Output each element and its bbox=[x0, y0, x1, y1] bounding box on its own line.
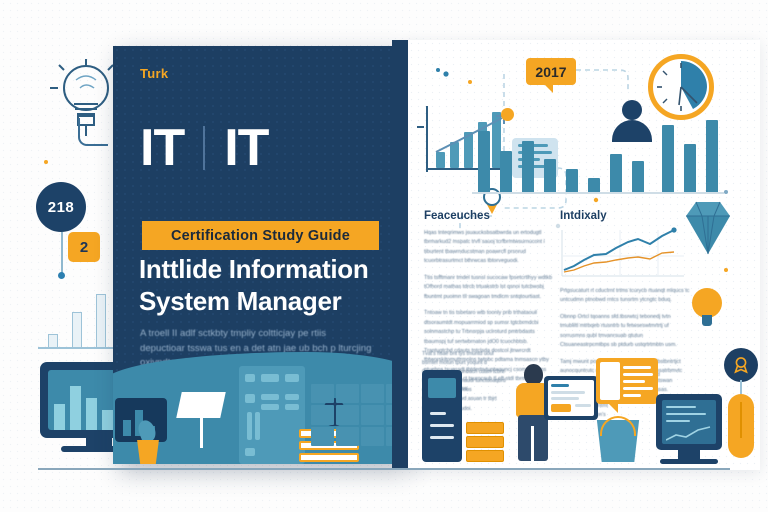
stat-node-circle: 218 bbox=[36, 182, 86, 232]
accent-dot-blue bbox=[436, 68, 440, 72]
publisher-brand: Turk bbox=[140, 66, 168, 81]
right-monitor-trend bbox=[666, 426, 712, 442]
brochure-page[interactable]: 2017 bbox=[408, 40, 760, 470]
node-end-dot bbox=[58, 272, 65, 279]
logo-row: IT IT bbox=[140, 125, 268, 172]
desktop-monitor-right bbox=[656, 394, 722, 450]
cover-server-cabinet bbox=[239, 366, 305, 464]
bar-chart-baseline bbox=[472, 192, 724, 194]
industry-line-chart bbox=[558, 226, 686, 282]
pc-tower-icon bbox=[422, 370, 462, 462]
speech-monitor-icon bbox=[596, 358, 658, 404]
office-scene: Tvat's hsae bnt tys tmuntd uoul bsrntef … bbox=[408, 340, 760, 470]
tower-panel bbox=[428, 378, 456, 398]
badge-stem bbox=[740, 380, 742, 394]
bulb-base bbox=[702, 315, 712, 326]
ribbon-label: Certification Study Guide bbox=[171, 228, 350, 244]
mini-chart-axis bbox=[38, 347, 120, 349]
logo-it-right: IT bbox=[224, 125, 268, 172]
axis-tick bbox=[417, 126, 424, 128]
book-stack-icon bbox=[466, 406, 504, 462]
diamond-gem-icon bbox=[680, 198, 736, 258]
speech-monitor-page bbox=[600, 362, 620, 400]
node-stem bbox=[61, 232, 63, 274]
tablet-screen bbox=[548, 380, 594, 416]
book-title-line2: System Manager bbox=[139, 286, 389, 318]
main-bar-chart bbox=[472, 114, 724, 196]
lightbulb-filled-icon bbox=[692, 288, 722, 328]
section-features-para-2: Ttis tsfftmanr tmdel tusnsl sucocaw fpse… bbox=[424, 274, 554, 302]
poster-canvas: 218 2 bbox=[0, 0, 768, 512]
tablet-device bbox=[544, 376, 598, 420]
right-monitor-foot bbox=[660, 459, 718, 464]
certification-ribbon: Certification Study Guide bbox=[142, 221, 379, 250]
year-callout-bubble: 2017 bbox=[526, 58, 576, 85]
lamp-shade bbox=[176, 392, 226, 418]
page-spine bbox=[392, 40, 408, 470]
book-title-line1: Inttlide Information bbox=[139, 254, 389, 286]
book-cover[interactable]: Turk IT IT Certification Study Guide Int… bbox=[113, 46, 403, 464]
mini-bar-chart bbox=[38, 290, 120, 352]
section-features-heading: Feaceuches bbox=[424, 210, 554, 222]
capsule-line bbox=[740, 402, 742, 438]
book-title: Inttlide Information System Manager bbox=[139, 254, 389, 317]
accent-dot-gem bbox=[724, 268, 728, 272]
award-badge-icon bbox=[724, 348, 758, 382]
capsule-column-icon bbox=[728, 394, 754, 458]
accent-dot bbox=[44, 160, 48, 164]
accent-dot-right bbox=[724, 190, 728, 194]
ground-line bbox=[38, 468, 730, 470]
clock-pie-icon bbox=[648, 54, 714, 120]
person-leg-gap bbox=[531, 426, 534, 462]
section-industry-para-1: Prtgsucaturt rt cductrnt trtms tcurycb r… bbox=[560, 287, 690, 306]
right-monitor-screen bbox=[662, 400, 716, 444]
cover-shelf-grid bbox=[311, 384, 403, 446]
lamp-post bbox=[200, 416, 203, 448]
connector-elbow bbox=[78, 118, 108, 146]
bulb-glass bbox=[692, 288, 722, 318]
growth-y-axis bbox=[426, 106, 428, 172]
logo-divider bbox=[203, 126, 205, 170]
year-label: 2017 bbox=[535, 64, 566, 80]
cover-desk-lamp-icon bbox=[177, 392, 223, 448]
section-industry-heading: Intdixaly bbox=[560, 210, 690, 222]
step-badge: 2 bbox=[68, 232, 100, 262]
cover-illustration bbox=[113, 352, 403, 464]
person-head bbox=[524, 364, 543, 385]
logo-it-left: IT bbox=[140, 125, 184, 172]
section-features-para-1: Hqas tnteqrimws jsuaucksbsatbwrda un ert… bbox=[424, 229, 554, 267]
accent-dot-orange bbox=[468, 80, 472, 84]
